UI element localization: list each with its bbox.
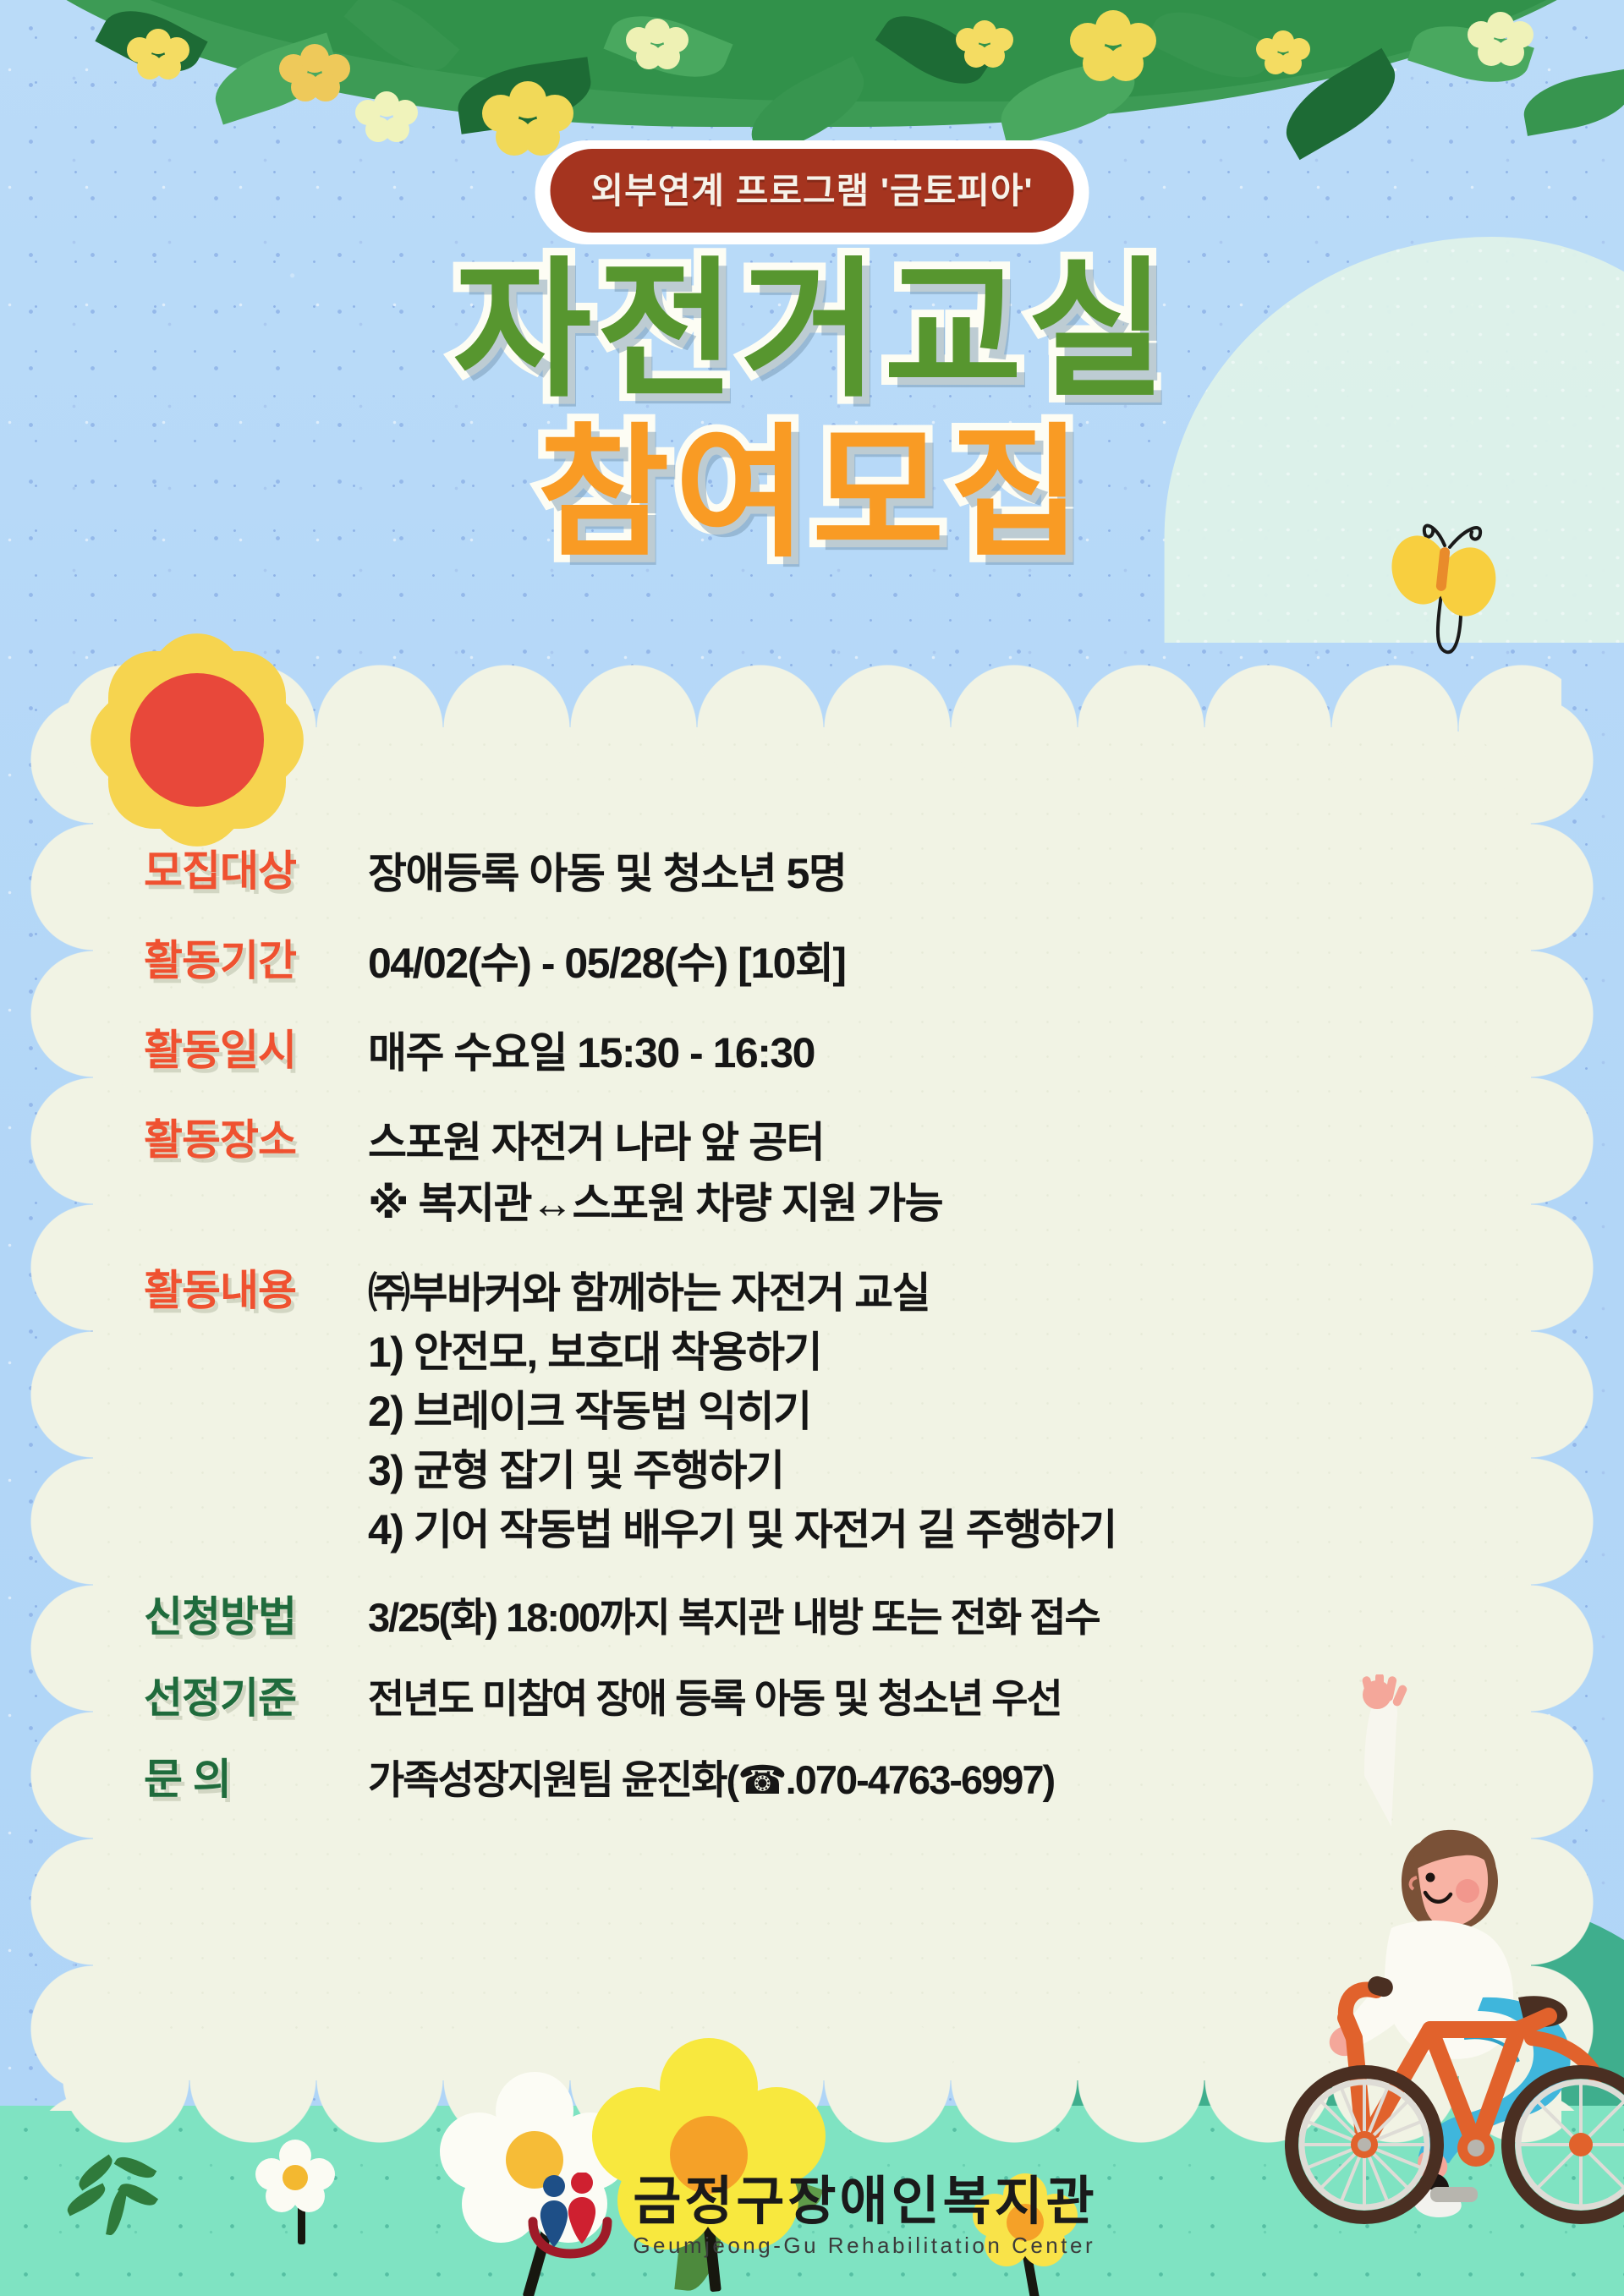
rehabilitation-center-logo-icon bbox=[526, 2173, 614, 2260]
detail-value-schedule: 매주 수요일 15:30 - 16:30 bbox=[368, 1025, 1497, 1081]
activities-intro: ㈜부바커와 함께하는 자전거 교실 bbox=[368, 1269, 930, 1317]
detail-row-target: 모집대상 장애등록 아동 및 청소년 5명 bbox=[144, 846, 1497, 901]
activity-item-4: 4) 기어 작동법 배우기 및 자전거 길 주행하기 bbox=[368, 1502, 1497, 1558]
activity-item-1: 1) 안전모, 보호대 착용하기 bbox=[368, 1324, 1497, 1380]
page-title-line2: 참여모집 bbox=[0, 421, 1624, 567]
footer-org-name-en: Geumjeong-Gu Rehabilitation Center bbox=[633, 2233, 1095, 2259]
poster-title-block: 자전거교실 참여모집 bbox=[0, 254, 1624, 567]
activity-item-3: 3) 균형 잡기 및 주행하기 bbox=[368, 1443, 1497, 1499]
footer-logo: 금정구장애인복지관 Geumjeong-Gu Rehabilitation Ce… bbox=[0, 2173, 1624, 2260]
child-on-bicycle-illustration bbox=[1265, 1674, 1624, 2224]
detail-row-schedule: 활동일시 매주 수요일 15:30 - 16:30 bbox=[144, 1025, 1497, 1081]
detail-row-period: 활동기간 04/02(수) - 05/28(수) [10회] bbox=[144, 935, 1497, 991]
poster-canvas: 외부연계 프로그램 '금토피아' 자전거교실 참여모집 모집대상 장애등록 아동… bbox=[0, 0, 1624, 2296]
program-banner-label: 외부연계 프로그램 '금토피아' bbox=[591, 162, 1034, 214]
detail-value-location: 스포원 자전거 나라 앞 공터 ※ 복지관↔스포원 차량 지원 가능 bbox=[368, 1115, 1497, 1231]
page-title-line1: 자전거교실 bbox=[0, 254, 1624, 408]
detail-value-target: 장애등록 아동 및 청소년 5명 bbox=[368, 846, 1497, 901]
activity-item-2: 2) 브레이크 작동법 익히기 bbox=[368, 1384, 1497, 1439]
detail-value-location-note: ※ 복지관↔스포원 차량 지원 가능 bbox=[368, 1175, 1497, 1231]
detail-label-activities: 활동내용 bbox=[144, 1265, 368, 1316]
program-banner-pill: 외부연계 프로그램 '금토피아' bbox=[551, 149, 1074, 233]
detail-label-apply: 신청방법 bbox=[144, 1592, 368, 1642]
detail-label-contact: 문 의 bbox=[144, 1754, 368, 1805]
footer-org-text: 금정구장애인복지관 Geumjeong-Gu Rehabilitation Ce… bbox=[633, 2174, 1097, 2259]
footer-org-name-ko: 금정구장애인복지관 bbox=[633, 2174, 1097, 2229]
detail-value-apply: 3/25(화) 18:00까지 복지관 내방 또는 전화 접수 bbox=[368, 1592, 1497, 1644]
detail-label-target: 모집대상 bbox=[144, 846, 368, 896]
detail-label-location: 활동장소 bbox=[144, 1115, 368, 1165]
detail-label-period: 활동기간 bbox=[144, 935, 368, 986]
detail-value-period: 04/02(수) - 05/28(수) [10회] bbox=[368, 935, 1497, 991]
leaf-icon bbox=[1519, 68, 1624, 136]
sun-icon bbox=[108, 651, 286, 829]
detail-row-apply: 신청방법 3/25(화) 18:00까지 복지관 내방 또는 전화 접수 bbox=[144, 1592, 1497, 1644]
sun-core bbox=[130, 673, 264, 807]
detail-value-location-main: 스포원 자전거 나라 앞 공터 bbox=[368, 1119, 824, 1166]
detail-label-criteria: 선정기준 bbox=[144, 1673, 368, 1723]
detail-row-location: 활동장소 스포원 자전거 나라 앞 공터 ※ 복지관↔스포원 차량 지원 가능 bbox=[144, 1115, 1497, 1231]
detail-label-schedule: 활동일시 bbox=[144, 1025, 368, 1076]
detail-value-activities: ㈜부바커와 함께하는 자전거 교실 1) 안전모, 보호대 착용하기 2) 브레… bbox=[368, 1265, 1497, 1558]
detail-row-activities: 활동내용 ㈜부바커와 함께하는 자전거 교실 1) 안전모, 보호대 착용하기 … bbox=[144, 1265, 1497, 1558]
program-banner: 외부연계 프로그램 '금토피아' bbox=[535, 140, 1089, 244]
